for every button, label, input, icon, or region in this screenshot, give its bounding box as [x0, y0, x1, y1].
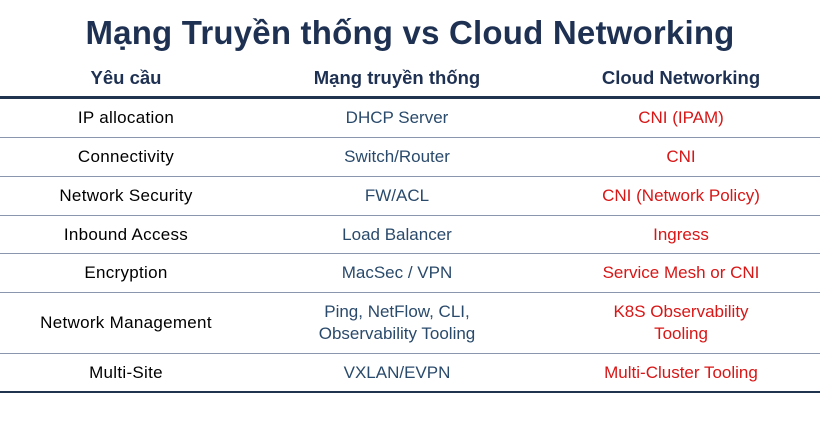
cell-line: Ingress: [550, 224, 812, 246]
cell-cloud: Ingress: [542, 215, 820, 254]
cell-line: CNI: [550, 146, 812, 168]
cell-requirement: Encryption: [0, 254, 252, 293]
cell-traditional: Load Balancer: [252, 215, 542, 254]
cell-line: Switch/Router: [260, 146, 534, 168]
cell-requirement: Multi-Site: [0, 353, 252, 392]
table-row: Network Security FW/ACL CNI (Network Pol…: [0, 176, 820, 215]
cell-line: Observability Tooling: [260, 323, 534, 345]
table-row: Connectivity Switch/Router CNI: [0, 138, 820, 177]
cell-traditional: VXLAN/EVPN: [252, 353, 542, 392]
cell-requirement: Network Security: [0, 176, 252, 215]
cell-cloud: CNI: [542, 138, 820, 177]
cell-line: K8S Observability: [550, 301, 812, 323]
cell-cloud: K8S Observability Tooling: [542, 293, 820, 354]
cell-line: Service Mesh or CNI: [550, 262, 812, 284]
cell-line: Multi-Cluster Tooling: [550, 362, 812, 384]
cell-traditional: MacSec / VPN: [252, 254, 542, 293]
table-body: IP allocation DHCP Server CNI (IPAM) Con…: [0, 98, 820, 393]
cell-requirement: IP allocation: [0, 98, 252, 138]
slide: Mạng Truyền thống vs Cloud Networking Yê…: [0, 0, 820, 435]
cell-cloud: CNI (IPAM): [542, 98, 820, 138]
table-header-row: Yêu cầu Mạng truyền thống Cloud Networki…: [0, 65, 820, 98]
cell-line: Load Balancer: [260, 224, 534, 246]
table-row: Multi-Site VXLAN/EVPN Multi-Cluster Tool…: [0, 353, 820, 392]
cell-requirement: Network Management: [0, 293, 252, 354]
cell-requirement: Connectivity: [0, 138, 252, 177]
cell-traditional: DHCP Server: [252, 98, 542, 138]
cell-cloud: Multi-Cluster Tooling: [542, 353, 820, 392]
column-header-cloud: Cloud Networking: [542, 65, 820, 98]
table-row: IP allocation DHCP Server CNI (IPAM): [0, 98, 820, 138]
cell-line: FW/ACL: [260, 185, 534, 207]
table-header: Yêu cầu Mạng truyền thống Cloud Networki…: [0, 65, 820, 98]
column-header-requirement: Yêu cầu: [0, 65, 252, 98]
cell-line: MacSec / VPN: [260, 262, 534, 284]
cell-cloud: Service Mesh or CNI: [542, 254, 820, 293]
cell-traditional: Ping, NetFlow, CLI, Observability Toolin…: [252, 293, 542, 354]
cell-line: CNI (Network Policy): [550, 185, 812, 207]
comparison-table: Yêu cầu Mạng truyền thống Cloud Networki…: [0, 65, 820, 393]
cell-traditional: Switch/Router: [252, 138, 542, 177]
table-row: Encryption MacSec / VPN Service Mesh or …: [0, 254, 820, 293]
cell-requirement: Inbound Access: [0, 215, 252, 254]
cell-traditional: FW/ACL: [252, 176, 542, 215]
table-row: Network Management Ping, NetFlow, CLI, O…: [0, 293, 820, 354]
table-row: Inbound Access Load Balancer Ingress: [0, 215, 820, 254]
cell-line: VXLAN/EVPN: [260, 362, 534, 384]
page-title: Mạng Truyền thống vs Cloud Networking: [0, 0, 820, 53]
cell-line: Tooling: [550, 323, 812, 345]
cell-cloud: CNI (Network Policy): [542, 176, 820, 215]
column-header-traditional: Mạng truyền thống: [252, 65, 542, 98]
cell-line: DHCP Server: [260, 107, 534, 129]
cell-line: Ping, NetFlow, CLI,: [260, 301, 534, 323]
cell-line: CNI (IPAM): [550, 107, 812, 129]
